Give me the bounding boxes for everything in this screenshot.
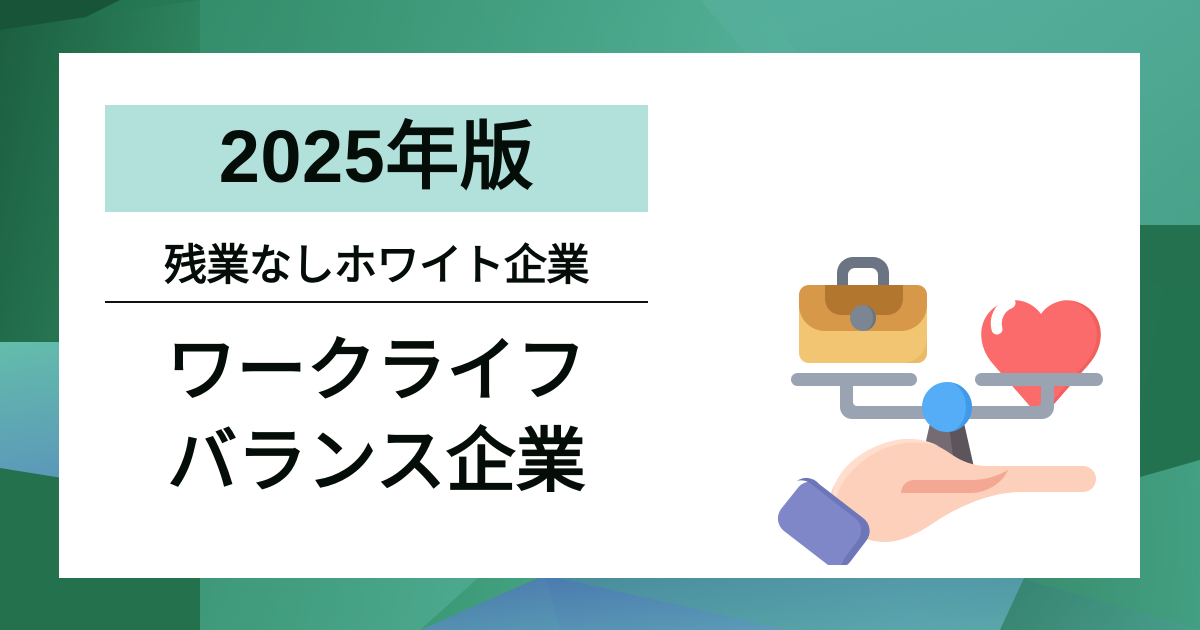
divider-rule xyxy=(105,301,648,303)
year-badge: 2025年版 xyxy=(105,105,648,212)
headline-line-1: ワークライフ xyxy=(105,325,648,416)
year-badge-label: 2025年版 xyxy=(127,111,626,203)
briefcase-icon xyxy=(799,257,927,363)
title-card-canvas: 2025年版 残業なしホワイト企業 ワークライフ バランス企業 xyxy=(0,0,1200,630)
headline-line-2: バランス企業 xyxy=(105,416,648,507)
headline: ワークライフ バランス企業 xyxy=(105,325,648,507)
text-column: 2025年版 残業なしホワイト企業 ワークライフ バランス企業 xyxy=(105,105,665,507)
subtitle-text: 残業なしホワイト企業 xyxy=(105,242,648,291)
content-card: 2025年版 残業なしホワイト企業 ワークライフ バランス企業 xyxy=(59,53,1140,578)
heart-icon xyxy=(977,300,1101,414)
open-palm-hand xyxy=(778,439,1096,565)
work-life-balance-illustration xyxy=(777,225,1117,565)
